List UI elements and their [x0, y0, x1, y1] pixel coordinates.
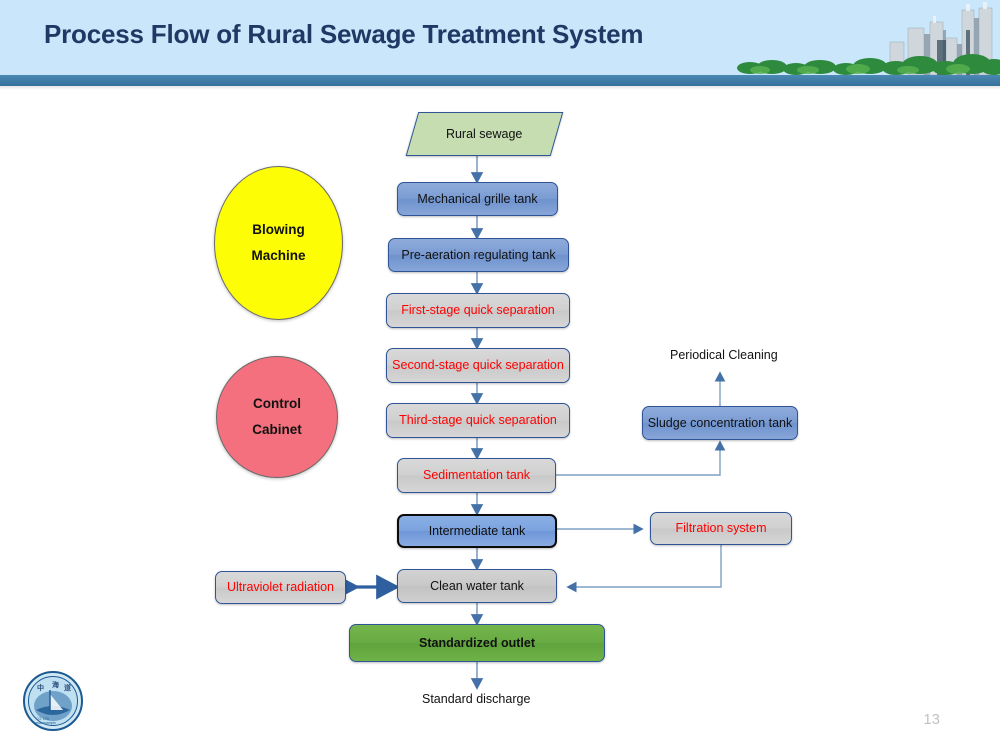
- node-second-stage-quick-separation[interactable]: Second-stage quick separation: [386, 348, 570, 383]
- node-sludge-concentration-tank-label: Sludge concentration tank: [648, 416, 793, 430]
- node-second-stage-quick-separation-label: Second-stage quick separation: [392, 358, 564, 372]
- label-periodical-cleaning: Periodical Cleaning: [670, 348, 778, 362]
- svg-text:道: 道: [64, 683, 71, 692]
- node-pre-aeration-regulating-tank-label: Pre-aeration regulating tank: [401, 248, 555, 262]
- node-blowing-machine-label-line2: Machine: [251, 248, 305, 264]
- city-skyline-art: [730, 0, 1000, 75]
- node-intermediate-tank-label: Intermediate tank: [429, 524, 526, 538]
- slide-header: Process Flow of Rural Sewage Treatment S…: [0, 0, 1000, 75]
- node-ultraviolet-radiation[interactable]: Ultraviolet radiation: [215, 571, 346, 604]
- company-seal-logo: 中 海 道 CO. LTD. www.example: [22, 670, 84, 732]
- svg-text:www.example: www.example: [35, 721, 56, 725]
- node-sludge-concentration-tank[interactable]: Sludge concentration tank: [642, 406, 798, 440]
- node-sedimentation-tank-label: Sedimentation tank: [423, 468, 530, 482]
- node-control-cabinet-label-line2: Cabinet: [252, 422, 302, 438]
- node-control-cabinet[interactable]: Control Cabinet: [216, 356, 338, 478]
- node-standardized-outlet[interactable]: Standardized outlet: [349, 624, 605, 662]
- node-mechanical-grille-tank-label: Mechanical grille tank: [417, 192, 537, 206]
- node-first-stage-quick-separation-label: First-stage quick separation: [401, 303, 555, 317]
- node-filtration-system-label: Filtration system: [676, 521, 767, 535]
- node-control-cabinet-label-line1: Control: [253, 396, 301, 412]
- header-divider-bar: [0, 75, 1000, 86]
- node-rural-sewage-label: Rural sewage: [446, 127, 522, 141]
- label-standard-discharge: Standard discharge: [422, 692, 530, 706]
- node-clean-water-tank-label: Clean water tank: [430, 579, 524, 593]
- svg-text:中: 中: [37, 683, 44, 692]
- page-number: 13: [923, 711, 940, 728]
- node-blowing-machine-label-line1: Blowing: [252, 222, 305, 238]
- node-pre-aeration-regulating-tank[interactable]: Pre-aeration regulating tank: [388, 238, 569, 272]
- node-third-stage-quick-separation-label: Third-stage quick separation: [399, 413, 557, 427]
- page-title: Process Flow of Rural Sewage Treatment S…: [44, 19, 643, 50]
- node-intermediate-tank[interactable]: Intermediate tank: [397, 514, 557, 548]
- node-standardized-outlet-label: Standardized outlet: [419, 636, 535, 650]
- svg-text:海: 海: [52, 680, 59, 689]
- node-clean-water-tank[interactable]: Clean water tank: [397, 569, 557, 603]
- node-mechanical-grille-tank[interactable]: Mechanical grille tank: [397, 182, 558, 216]
- node-third-stage-quick-separation[interactable]: Third-stage quick separation: [386, 403, 570, 438]
- node-first-stage-quick-separation[interactable]: First-stage quick separation: [386, 293, 570, 328]
- node-ultraviolet-radiation-label: Ultraviolet radiation: [227, 580, 334, 594]
- node-filtration-system[interactable]: Filtration system: [650, 512, 792, 545]
- node-blowing-machine[interactable]: Blowing Machine: [214, 166, 343, 320]
- flowchart-canvas: Rural sewage Mechanical grille tank Pre-…: [0, 90, 1000, 750]
- node-sedimentation-tank[interactable]: Sedimentation tank: [397, 458, 556, 493]
- node-rural-sewage[interactable]: Rural sewage: [406, 112, 564, 156]
